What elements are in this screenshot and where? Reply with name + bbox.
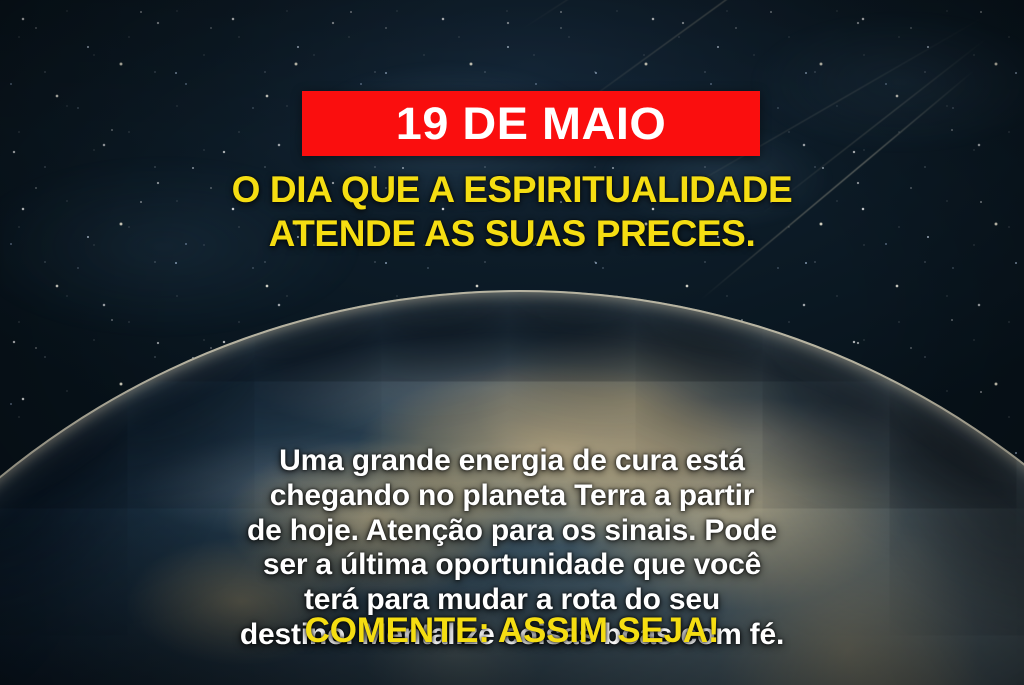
body-line-4: ser a última oportunidade que você bbox=[0, 548, 1024, 583]
poster-canvas: 19 DE MAIO O DIA QUE A ESPIRITUALIDADE A… bbox=[0, 0, 1024, 685]
poster-content: 19 DE MAIO O DIA QUE A ESPIRITUALIDADE A… bbox=[0, 0, 1024, 685]
body-line-1: Uma grande energia de cura está bbox=[0, 444, 1024, 479]
call-to-action-text: COMENTE: ASSIM SEJA! bbox=[0, 612, 1024, 651]
date-banner: 19 DE MAIO bbox=[302, 91, 760, 156]
headline: O DIA QUE A ESPIRITUALIDADE ATENDE AS SU… bbox=[0, 168, 1024, 256]
date-banner-label: 19 DE MAIO bbox=[396, 101, 666, 146]
headline-line-1: O DIA QUE A ESPIRITUALIDADE bbox=[0, 168, 1024, 212]
headline-line-2: ATENDE AS SUAS PRECES. bbox=[0, 212, 1024, 256]
body-line-2: chegando no planeta Terra a partir bbox=[0, 479, 1024, 514]
body-line-3: de hoje. Atenção para os sinais. Pode bbox=[0, 514, 1024, 549]
